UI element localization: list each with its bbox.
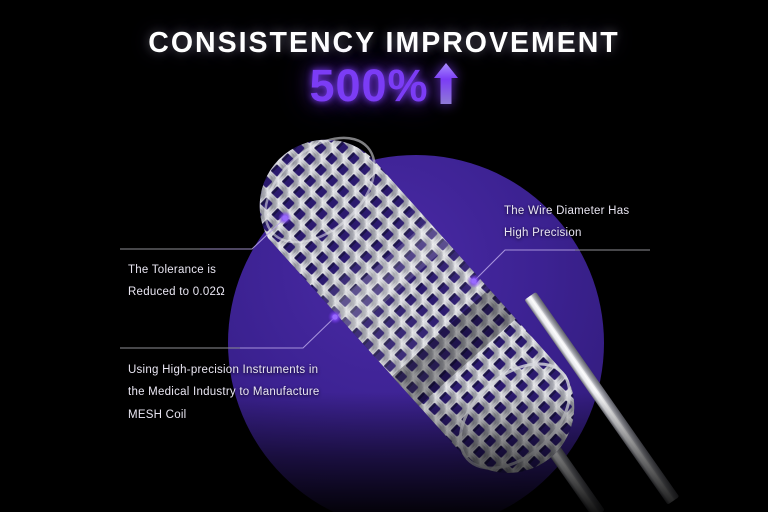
title-block: CONSISTENCY IMPROVEMENT 500% [0,28,768,108]
improvement-percent: 500% [309,63,428,108]
infographic-canvas: The Wire Diameter Has High Precision The… [0,0,768,512]
callout-tolerance-line-2: Reduced to 0.02Ω [128,281,318,303]
callout-mesh-manufacture-line-1: Using High-precision Instruments in [128,359,358,381]
callout-wire-diameter-line-1: The Wire Diameter Has [504,200,684,222]
improvement-stat: 500% [0,62,768,108]
callout-wire-diameter: The Wire Diameter Has High Precision [504,200,684,245]
mesh-cylinder [207,114,623,504]
callout-mesh-manufacture: Using High-precision Instruments in the … [128,359,358,426]
page-title: CONSISTENCY IMPROVEMENT [0,28,768,59]
callout-wire-diameter-line-2: High Precision [504,222,684,244]
arrow-up-icon [433,62,459,106]
callout-tolerance: The Tolerance is Reduced to 0.02Ω [128,259,318,304]
callout-mesh-manufacture-line-2: the Medical Industry to Manufacture [128,381,358,403]
callout-tolerance-line-1: The Tolerance is [128,259,318,281]
callout-mesh-manufacture-line-3: MESH Coil [128,404,358,426]
